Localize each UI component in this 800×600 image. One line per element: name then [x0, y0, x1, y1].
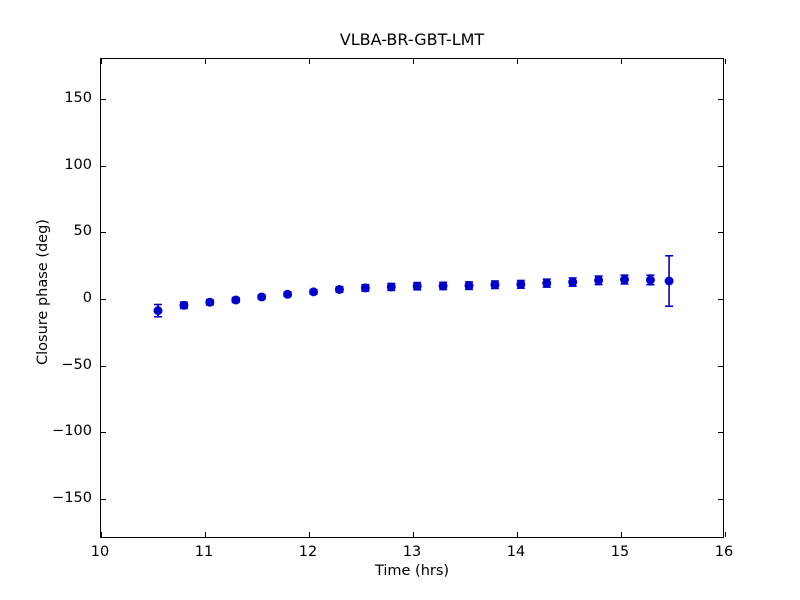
y-tick-label: 50 [34, 223, 92, 239]
y-tick-mark [101, 232, 106, 233]
x-tick-label: 13 [403, 544, 421, 560]
y-tick-mark [718, 366, 723, 367]
data-point [309, 287, 318, 296]
x-tick-mark [309, 532, 310, 537]
x-tick-mark [413, 532, 414, 537]
data-point [439, 281, 448, 290]
y-tick-label: 150 [34, 90, 92, 106]
data-point [413, 282, 422, 291]
data-point [283, 290, 292, 299]
y-tick-mark [101, 432, 106, 433]
data-point [665, 256, 674, 306]
x-tick-mark [413, 59, 414, 64]
y-tick-label: −50 [34, 357, 92, 373]
data-point [179, 301, 188, 310]
y-tick-mark [101, 99, 106, 100]
y-tick-label: 0 [34, 290, 92, 306]
data-point [205, 298, 214, 307]
x-tick-mark [205, 59, 206, 64]
x-axis-label: Time (hrs) [100, 563, 724, 579]
data-point [594, 276, 603, 285]
y-tick-mark [101, 499, 106, 500]
data-point [387, 282, 396, 291]
y-tick-mark [101, 366, 106, 367]
x-tick-mark [205, 532, 206, 537]
x-tick-mark [517, 532, 518, 537]
data-point [646, 275, 655, 285]
x-tick-mark [621, 532, 622, 537]
x-tick-mark [101, 59, 102, 64]
x-tick-label: 12 [299, 544, 317, 560]
figure: VLBA-BR-GBT-LMT Time (hrs) Closure phase… [0, 0, 800, 600]
data-point [257, 292, 266, 301]
x-tick-label: 16 [715, 544, 733, 560]
chart-title: VLBA-BR-GBT-LMT [100, 30, 724, 49]
y-tick-mark [718, 232, 723, 233]
x-tick-mark [517, 59, 518, 64]
plot-area [100, 58, 724, 538]
data-point [490, 280, 499, 289]
x-tick-mark [725, 59, 726, 64]
y-tick-label: 100 [34, 157, 92, 173]
data-layer [101, 59, 723, 537]
data-point [361, 283, 370, 292]
data-point [516, 280, 525, 289]
x-tick-mark [309, 59, 310, 64]
y-tick-mark [101, 166, 106, 167]
x-tick-label: 15 [611, 544, 629, 560]
y-tick-label: −100 [34, 423, 92, 439]
x-tick-label: 14 [507, 544, 525, 560]
y-tick-mark [718, 299, 723, 300]
y-tick-mark [101, 299, 106, 300]
y-tick-mark [718, 99, 723, 100]
x-tick-mark [621, 59, 622, 64]
data-point [154, 305, 163, 317]
data-point [620, 275, 629, 284]
x-tick-label: 11 [195, 544, 213, 560]
data-series [154, 256, 674, 317]
y-tick-mark [718, 166, 723, 167]
data-point [542, 279, 551, 288]
data-point [465, 281, 474, 290]
y-tick-mark [718, 432, 723, 433]
data-point [335, 285, 344, 294]
y-tick-label: −150 [34, 490, 92, 506]
x-tick-mark [725, 532, 726, 537]
x-tick-label: 10 [91, 544, 109, 560]
y-tick-mark [718, 499, 723, 500]
x-tick-mark [101, 532, 102, 537]
data-point [568, 278, 577, 287]
data-point [231, 296, 240, 305]
